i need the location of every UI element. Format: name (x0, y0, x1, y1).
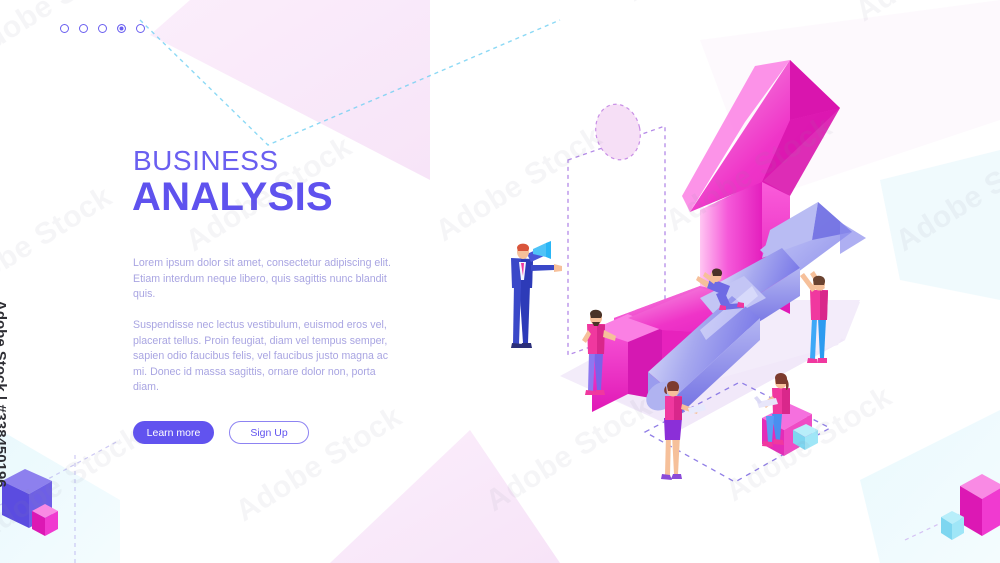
learn-more-button[interactable]: Learn more (133, 421, 214, 444)
body-paragraph-1: Lorem ipsum dolor sit amet, consectetur … (133, 256, 401, 302)
carousel-dots[interactable] (60, 24, 145, 33)
carousel-dot-1[interactable] (60, 24, 69, 33)
woman-with-laptop-on-cube (754, 373, 818, 456)
page-title-line1: BUSINESS (133, 146, 433, 175)
arrow-fragment-back (840, 222, 866, 254)
carousel-dot-2[interactable] (79, 24, 88, 33)
carousel-dot-4[interactable] (117, 24, 126, 33)
businessman-with-megaphone (511, 241, 562, 348)
body-paragraph-2: Suspendisse nec lectus vestibulum, euism… (133, 318, 401, 395)
hero-content: BUSINESS ANALYSIS Lorem ipsum dolor sit … (133, 146, 433, 444)
page-title-line2: ANALYSIS (132, 175, 433, 219)
cta-button-row: Learn more Sign Up (133, 421, 433, 444)
illustration-stage: BUSINESS ANALYSIS Lorem ipsum dolor sit … (0, 0, 1000, 563)
carousel-dot-3[interactable] (98, 24, 107, 33)
carousel-dot-5[interactable] (136, 24, 145, 33)
sign-up-button[interactable]: Sign Up (229, 421, 309, 444)
